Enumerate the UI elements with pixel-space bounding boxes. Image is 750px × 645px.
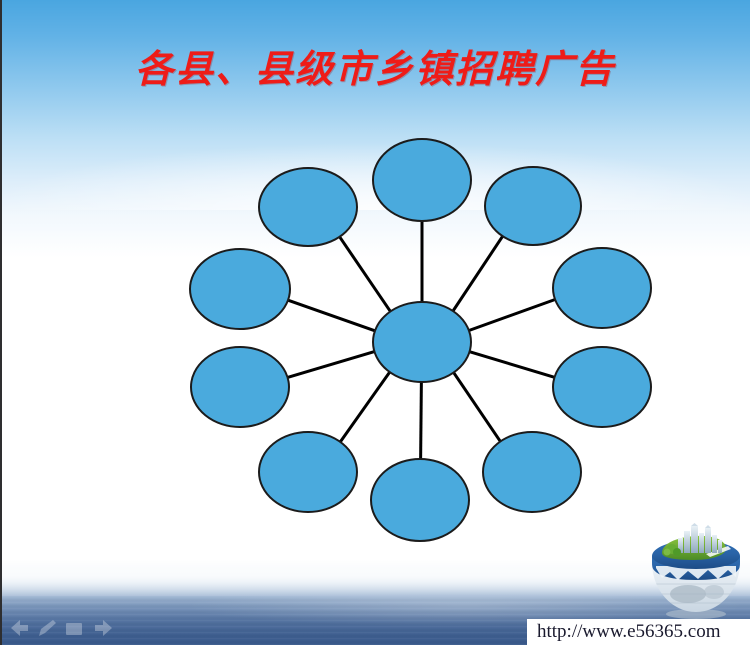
- node-left-upper[interactable]: [190, 249, 290, 329]
- earth-city-globe-logo: [648, 522, 744, 620]
- menu-square-icon[interactable]: [66, 623, 82, 635]
- spoke-line-node-right-upper: [469, 299, 555, 330]
- spoke-line-node-top-right: [453, 236, 503, 311]
- watermark-url: http://www.e56365.com: [527, 619, 750, 645]
- node-top-left[interactable]: [259, 168, 357, 246]
- spoke-line-node-bottom-right: [454, 373, 501, 442]
- node-right-lower[interactable]: [553, 347, 651, 427]
- next-arrow-icon[interactable]: [95, 620, 112, 636]
- spoke-line-node-right-lower: [470, 352, 555, 378]
- node-bottom-left[interactable]: [259, 432, 357, 512]
- node-top[interactable]: [373, 139, 471, 221]
- pen-icon[interactable]: [39, 620, 56, 636]
- spoke-line-node-left-upper: [288, 300, 375, 331]
- presentation-slide: 各县、县级市乡镇招聘广告: [0, 0, 750, 645]
- previous-arrow-icon[interactable]: [11, 620, 28, 636]
- city-skyline-icon: [678, 523, 722, 553]
- center-node[interactable]: [373, 302, 471, 382]
- spoke-line-node-bottom: [421, 382, 422, 459]
- slideshow-nav-controls[interactable]: [8, 617, 118, 639]
- spoke-line-node-left-lower: [288, 352, 375, 378]
- radial-hub-and-spoke-diagram: [0, 0, 750, 645]
- node-right-upper[interactable]: [553, 248, 651, 328]
- hub-node-group: [373, 302, 471, 382]
- spoke-line-node-bottom-left: [340, 372, 389, 442]
- spoke-line-node-top-left: [340, 237, 391, 312]
- node-left-lower[interactable]: [191, 347, 289, 427]
- node-bottom-right[interactable]: [483, 432, 581, 512]
- node-bottom[interactable]: [371, 459, 469, 541]
- node-top-right[interactable]: [485, 167, 581, 245]
